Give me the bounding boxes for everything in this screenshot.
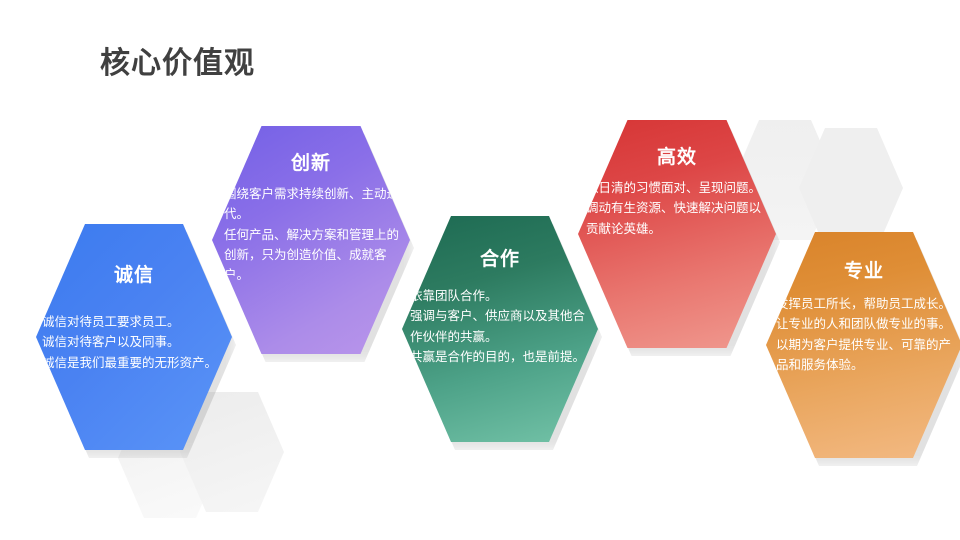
value-hexagon-title: 诚信 [36,260,232,287]
value-hexagon-title: 专业 [766,256,960,283]
value-hexagon-title: 合作 [402,244,598,271]
value-hexagon-body: 诚信对待员工要求员工。 诚信对待客户以及同事。 诚信是我们最重要的无形资产。 [42,312,226,373]
slide-canvas: 核心价值观 诚信 诚信对待员工要求员工。 诚信对待客户以及同事。 诚信是我们最重… [0,0,960,540]
value-hexagon-body: 依靠团队合作。 强调与客户、供应商以及其他合作伙伴的共赢。 共赢是合作的目的，也… [410,286,592,367]
value-hexagon-body: 围绕客户需求持续创新、主动迭代。 任何产品、解决方案和管理上的创新，只为创造价值… [224,184,402,285]
value-hexagon-body: 发挥员工所长，帮助员工成长。 让专业的人和团队做专业的事。 以期为客户提供专业、… [776,294,956,375]
value-hexagon-body: 以日清的习惯面对、呈现问题。 调动有生资源、快速解决问题以贡献论英雄。 [586,178,768,239]
page-title: 核心价值观 [100,38,255,82]
